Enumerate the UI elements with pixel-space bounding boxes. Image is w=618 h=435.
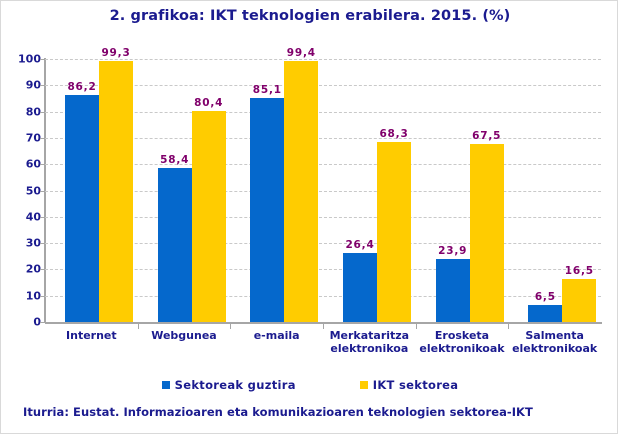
bar-0[interactable]: 86,2 xyxy=(65,95,99,322)
x-axis-tick-mark xyxy=(323,323,324,329)
x-axis-category-label: Salmentaelektronikoak xyxy=(508,329,601,355)
bar-group: 23,967,5 xyxy=(416,59,509,322)
legend-label: Sektoreak guztira xyxy=(175,378,296,392)
bar-group: 58,480,4 xyxy=(138,59,231,322)
x-axis-tick-mark xyxy=(416,323,417,329)
plot-area: 86,299,358,480,485,199,426,468,323,967,5… xyxy=(45,59,601,322)
x-axis-label-line: Salmenta xyxy=(508,329,601,342)
y-axis-tick-label: 0 xyxy=(5,316,41,329)
bar-group: 86,299,3 xyxy=(45,59,138,322)
x-axis-category-label: Webgunea xyxy=(138,329,231,342)
bar-value-label: 6,5 xyxy=(535,291,556,303)
x-axis-label-line: elektronikoak xyxy=(416,342,509,355)
bar-value-label: 68,3 xyxy=(379,128,408,140)
x-axis-category-label: Erosketaelektronikoak xyxy=(416,329,509,355)
bar-0[interactable]: 26,4 xyxy=(343,253,377,322)
x-axis-label-line: Erosketa xyxy=(416,329,509,342)
bar-value-label: 85,1 xyxy=(253,84,282,96)
bar-value-label: 26,4 xyxy=(345,239,374,251)
bar-value-label: 58,4 xyxy=(160,154,189,166)
bar-0[interactable]: 23,9 xyxy=(436,259,470,322)
bar-value-label: 16,5 xyxy=(565,265,594,277)
x-axis-label-line: Internet xyxy=(45,329,138,342)
x-axis-category-label: Internet xyxy=(45,329,138,342)
legend-item-1[interactable]: IKT sektorea xyxy=(360,378,459,392)
bar-group: 26,468,3 xyxy=(323,59,416,322)
bar-1[interactable]: 67,5 xyxy=(470,144,504,322)
y-axis-tick-label: 30 xyxy=(5,237,41,250)
x-axis-category-label: Merkataritzaelektronikoa xyxy=(323,329,416,355)
bar-1[interactable]: 68,3 xyxy=(377,142,411,322)
y-axis-tick-label: 20 xyxy=(5,263,41,276)
bar-0[interactable]: 6,5 xyxy=(528,305,562,322)
x-axis-category-label: e-maila xyxy=(230,329,323,342)
x-axis-label-line: e-maila xyxy=(230,329,323,342)
x-axis-label-line: Merkataritza xyxy=(323,329,416,342)
source-note: Iturria: Eustat. Informazioaren eta komu… xyxy=(23,405,533,419)
bar-value-label: 23,9 xyxy=(438,245,467,257)
y-axis-tick-label: 60 xyxy=(5,158,41,171)
bar-0[interactable]: 58,4 xyxy=(158,168,192,322)
y-axis-tick-label: 80 xyxy=(5,105,41,118)
y-axis-tick-label: 40 xyxy=(5,210,41,223)
bar-1[interactable]: 99,3 xyxy=(99,61,133,322)
y-axis-tick-label: 70 xyxy=(5,131,41,144)
bar-value-label: 80,4 xyxy=(194,97,223,109)
bar-value-label: 86,2 xyxy=(67,81,96,93)
legend-swatch-icon xyxy=(162,381,170,389)
x-axis-label-line: Webgunea xyxy=(138,329,231,342)
x-axis-tick-mark xyxy=(508,323,509,329)
x-axis-tick-mark xyxy=(138,323,139,329)
chart-container: 2. grafikoa: IKT teknologien erabilera. … xyxy=(0,0,618,434)
bar-value-label: 99,3 xyxy=(101,47,130,59)
x-axis-label-line: elektronikoak xyxy=(508,342,601,355)
legend-label: IKT sektorea xyxy=(373,378,459,392)
bar-value-label: 67,5 xyxy=(472,130,501,142)
x-axis-tick-mark xyxy=(230,323,231,329)
x-axis-label-line: elektronikoa xyxy=(323,342,416,355)
y-axis-tick-labels: 0102030405060708090100 xyxy=(1,1,41,435)
y-axis-tick-label: 10 xyxy=(5,289,41,302)
bar-1[interactable]: 16,5 xyxy=(562,279,596,322)
legend-item-0[interactable]: Sektoreak guztira xyxy=(162,378,296,392)
chart-legend: Sektoreak guztiraIKT sektorea xyxy=(1,378,618,392)
bar-1[interactable]: 99,4 xyxy=(284,61,318,322)
chart-title: 2. grafikoa: IKT teknologien erabilera. … xyxy=(1,8,618,24)
y-axis-tick-label: 100 xyxy=(5,53,41,66)
y-axis-tick-label: 50 xyxy=(5,184,41,197)
bar-value-label: 99,4 xyxy=(287,47,316,59)
bar-group: 85,199,4 xyxy=(230,59,323,322)
legend-swatch-icon xyxy=(360,381,368,389)
bar-group: 6,516,5 xyxy=(508,59,601,322)
bar-1[interactable]: 80,4 xyxy=(192,111,226,322)
bar-0[interactable]: 85,1 xyxy=(250,98,284,322)
y-axis-tick-label: 90 xyxy=(5,79,41,92)
